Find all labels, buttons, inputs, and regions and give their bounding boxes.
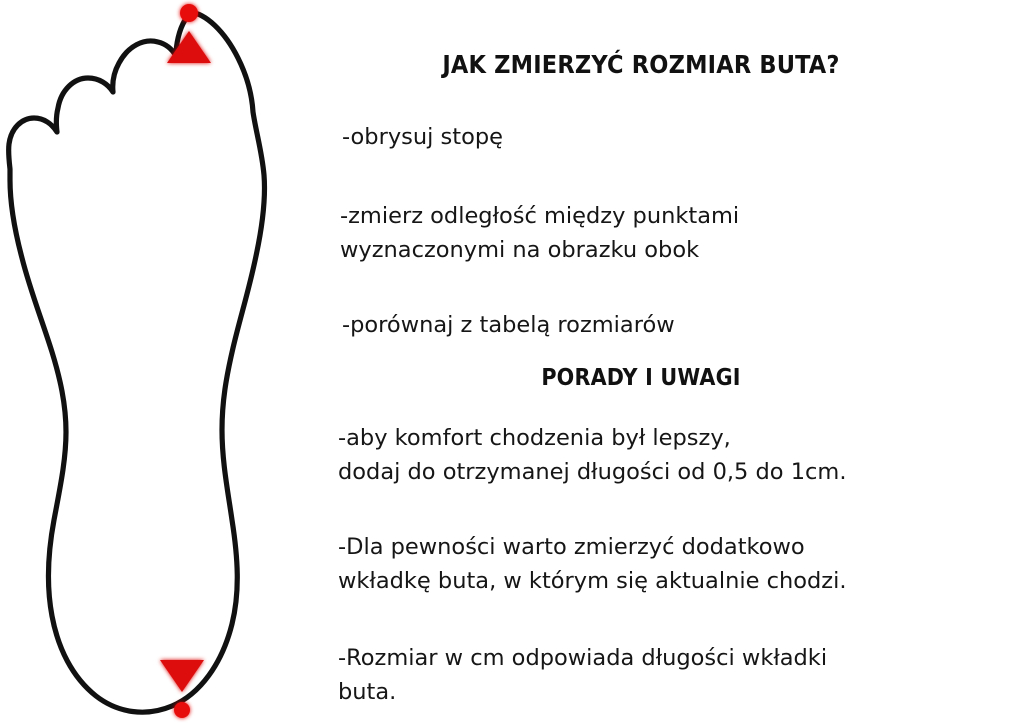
foot-outline-path	[9, 12, 265, 712]
page-title: JAK ZMIERZYĆ ROZMIAR BUTA?	[336, 50, 946, 79]
tips-section-title: PORADY I UWAGI	[336, 365, 946, 391]
instruction-item-2: -zmierz odległość między punktami wyznac…	[340, 199, 739, 267]
instruction-item-3: -porównaj z tabelą rozmiarów	[342, 308, 675, 342]
tip-item-2: -Dla pewności warto zmierzyć dodatkowo w…	[338, 530, 847, 598]
infographic-page: JAK ZMIERZYĆ ROZMIAR BUTA? -obrysuj stop…	[0, 0, 1024, 728]
text-column: JAK ZMIERZYĆ ROZMIAR BUTA? -obrysuj stop…	[336, 0, 1024, 728]
heel-marker-dot	[174, 702, 190, 718]
toe-marker-dot	[180, 4, 198, 22]
tip-item-1: -aby komfort chodzenia był lepszy, dodaj…	[338, 421, 846, 489]
tip-item-3: -Rozmiar w cm odpowiada długości wkładki…	[338, 641, 827, 709]
foot-diagram	[0, 0, 320, 728]
instruction-item-1: -obrysuj stopę	[342, 120, 503, 154]
